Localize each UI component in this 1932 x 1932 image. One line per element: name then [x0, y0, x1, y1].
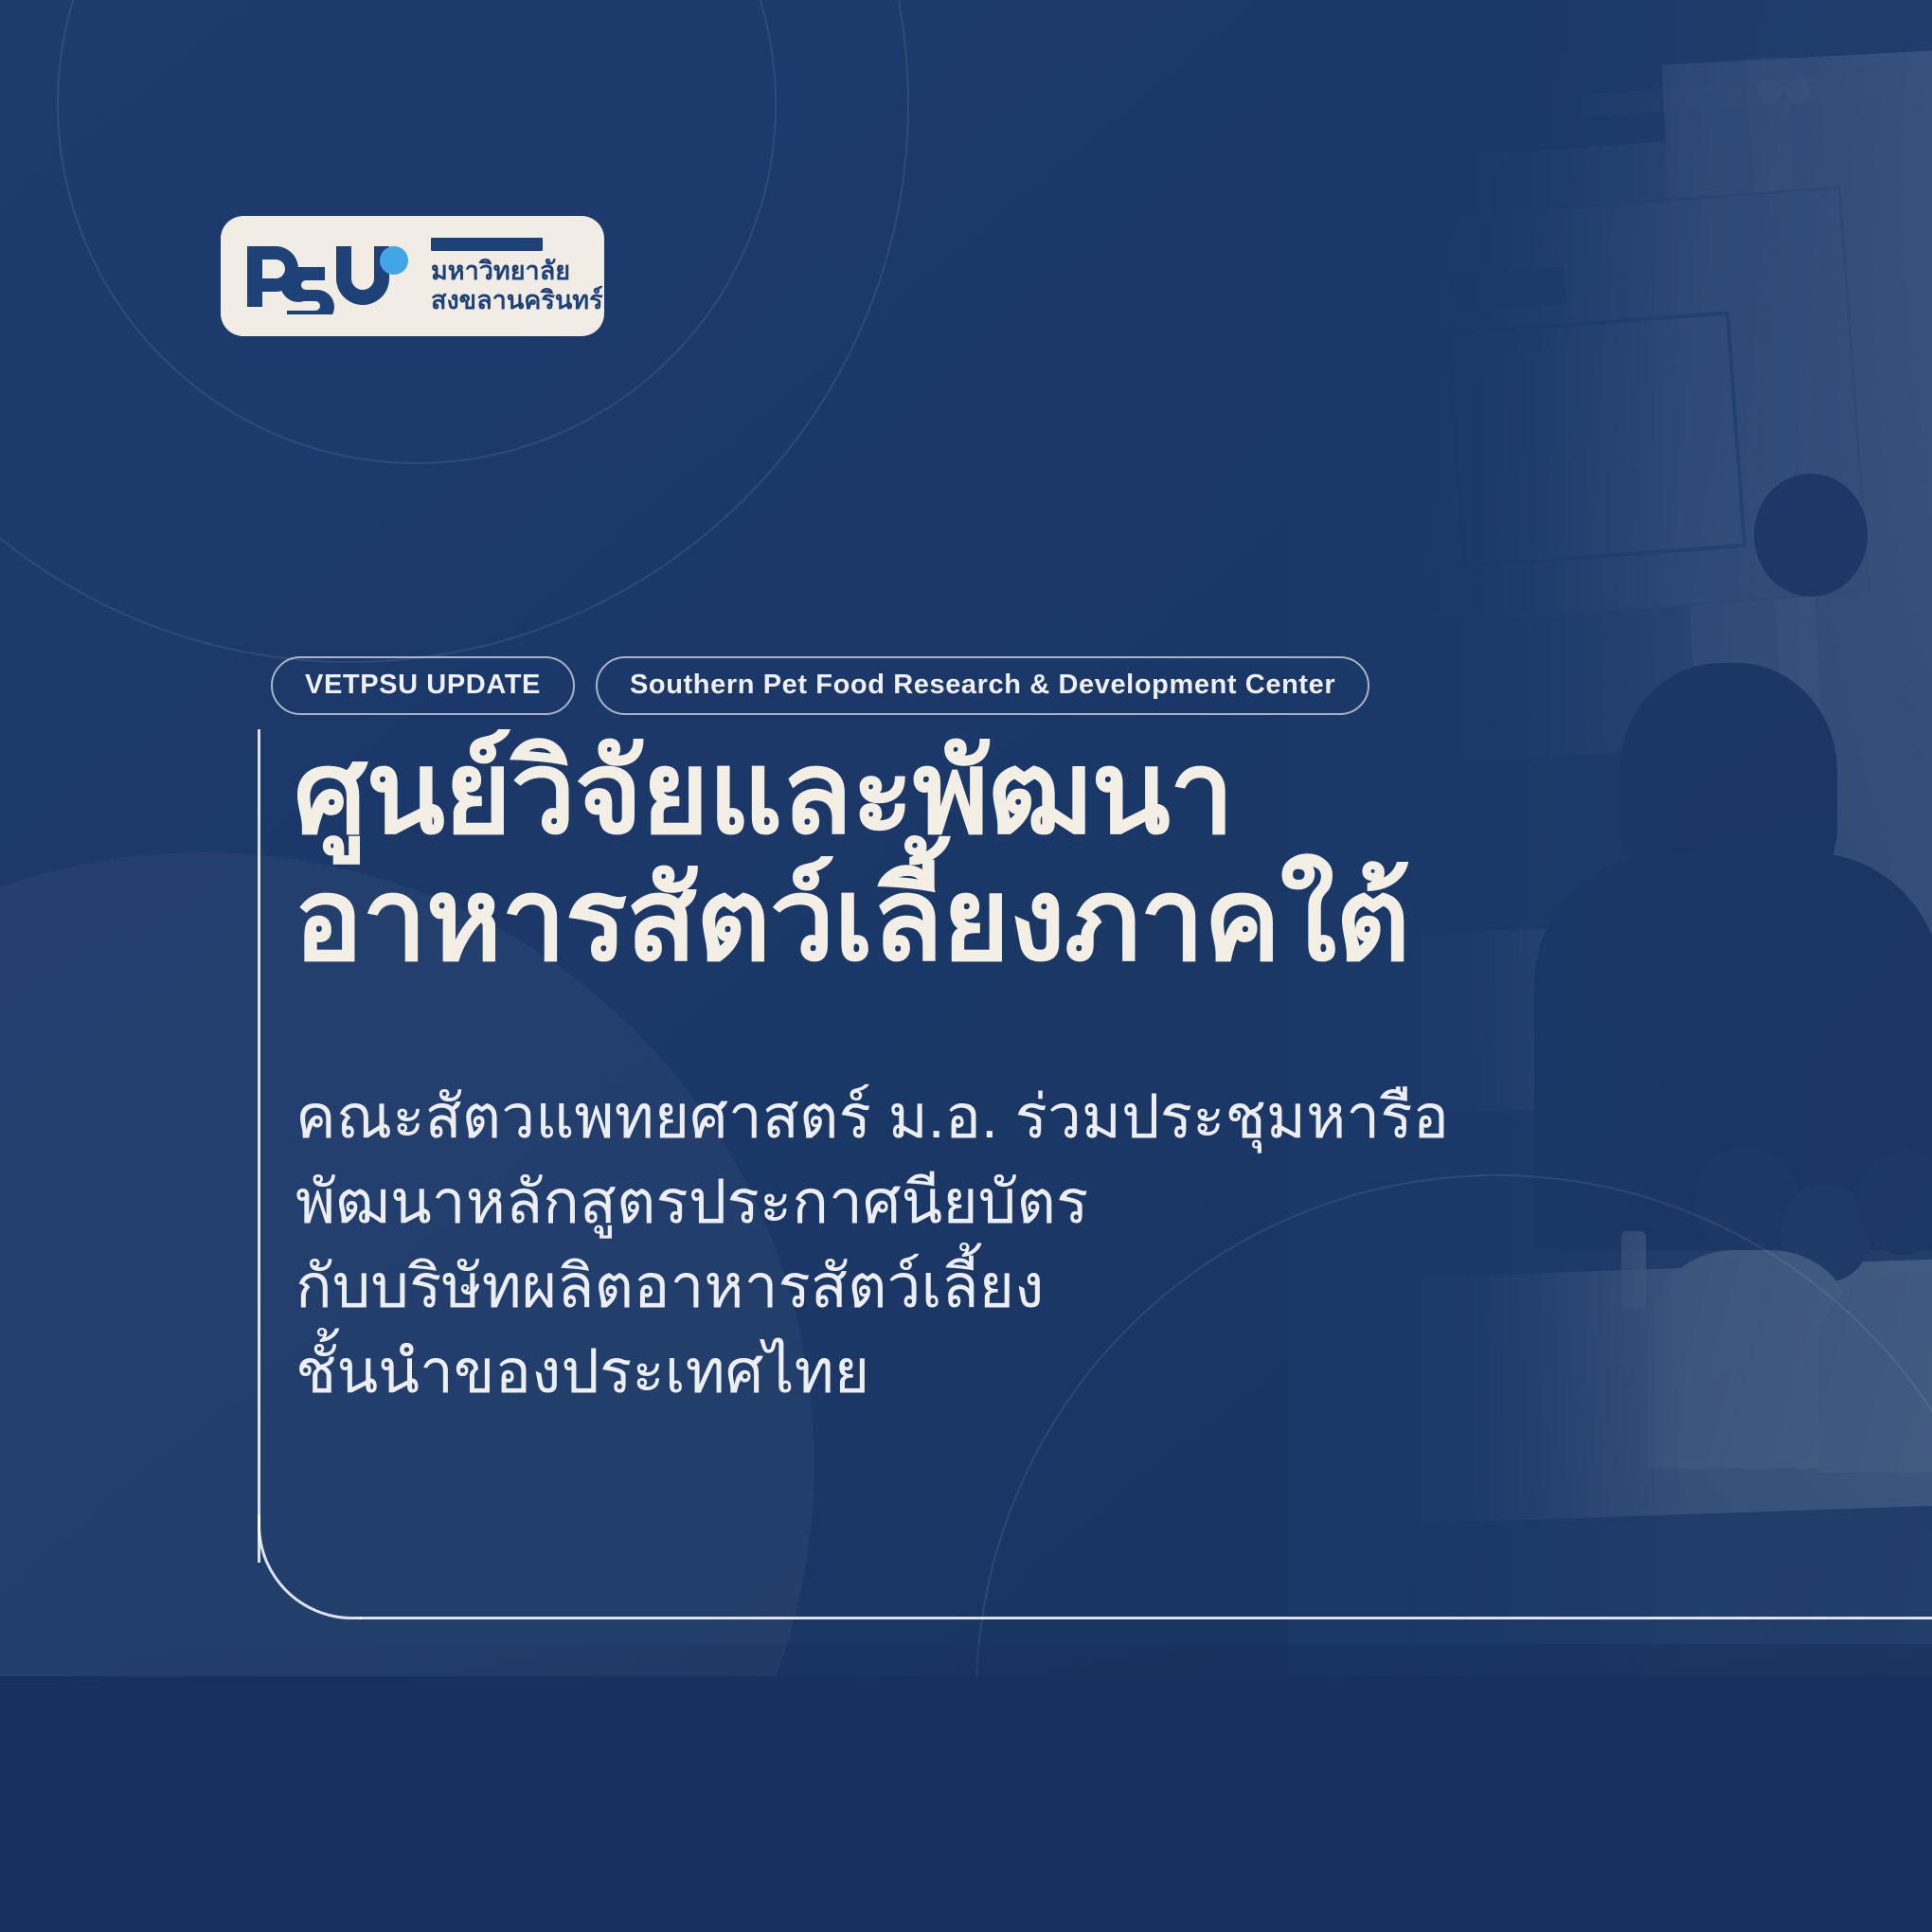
- headline-line-2: อาหารสัตว์เลี้ยงภาคใต้: [294, 856, 1695, 983]
- psu-logo-rule: [431, 238, 543, 251]
- bottom-band: [0, 1676, 1932, 1932]
- page-title: ศูนย์วิจัยและพัฒนา อาหารสัตว์เลี้ยงภาคใต…: [294, 729, 1695, 983]
- badge-vetpsu-update[interactable]: VETPSU UPDATE: [271, 656, 575, 715]
- psu-wordmark-icon: [245, 239, 389, 314]
- badge-center-name[interactable]: Southern Pet Food Research & Development…: [596, 656, 1369, 715]
- headline-line-1: ศูนย์วิจัยและพัฒนา: [294, 729, 1695, 856]
- poster-canvas: มหาวิทยาลัย สงขลานครินทร์ VETPSU UPDATE …: [0, 0, 1932, 1932]
- accent-rule-horizontal: [360, 1617, 1932, 1619]
- psu-accent-dot-icon: [380, 246, 408, 275]
- badge-row: VETPSU UPDATE Southern Pet Food Research…: [271, 656, 1369, 715]
- psu-logo-line-2: สงขลานครินทร์: [431, 286, 603, 315]
- body-line-2: พัฒนาหลักสูตรประกาศนียบัตร: [295, 1160, 1574, 1245]
- accent-rule-vertical: [258, 729, 260, 1563]
- body-line-3: กับบริษัทผลิตอาหารสัตว์เลี้ยง: [295, 1244, 1574, 1330]
- body-line-4: ชั้นนำของประเทศไทย: [295, 1330, 1574, 1415]
- body-copy: คณะสัตวแพทยศาสตร์ ม.อ. ร่วมประชุมหารือ พ…: [295, 1075, 1574, 1414]
- psu-logo-text: มหาวิทยาลัย สงขลานครินทร์: [431, 238, 603, 314]
- psu-logo-card: มหาวิทยาลัย สงขลานครินทร์: [221, 216, 604, 336]
- body-line-1: คณะสัตวแพทยศาสตร์ ม.อ. ร่วมประชุมหารือ: [295, 1075, 1574, 1160]
- psu-logo-line-1: มหาวิทยาลัย: [431, 257, 603, 286]
